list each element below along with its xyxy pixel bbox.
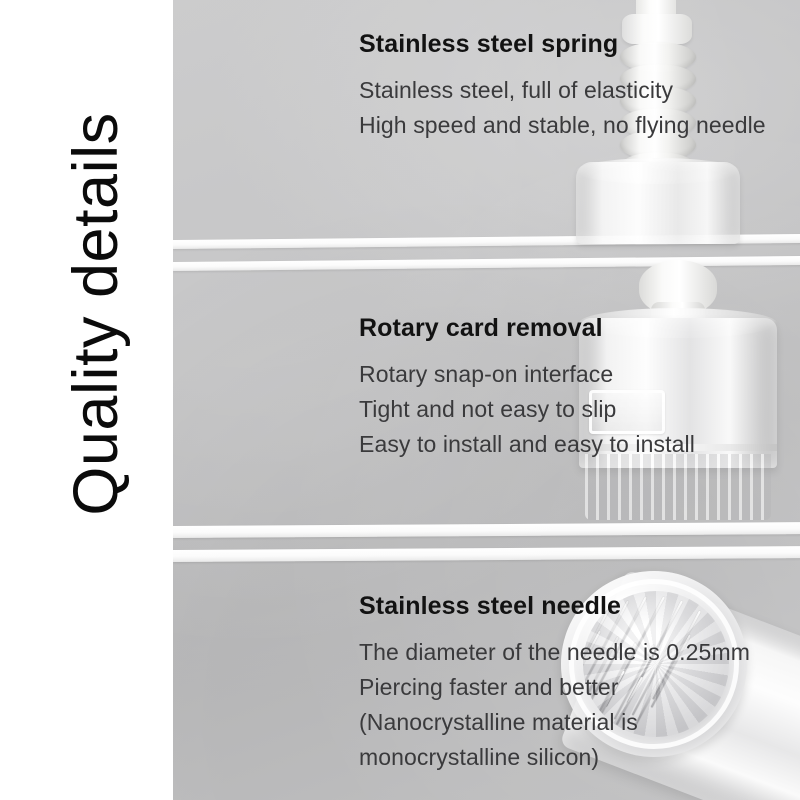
section-line: monocrystalline silicon) xyxy=(359,740,750,775)
section-stainless-steel-needle: Stainless steel needle The diameter of t… xyxy=(359,592,750,775)
section-line: High speed and stable, no flying needle xyxy=(359,108,766,143)
divider-bar xyxy=(173,233,800,249)
section-rotary-card-removal: Rotary card removal Rotary snap-on inter… xyxy=(359,314,695,462)
section-line: Rotary snap-on interface xyxy=(359,357,695,392)
spring-base-rim xyxy=(576,158,740,184)
section-line: Tight and not easy to slip xyxy=(359,392,695,427)
section-heading: Stainless steel needle xyxy=(359,592,750,621)
rotary-ribbed-barrel xyxy=(585,454,771,520)
divider-bar xyxy=(173,255,800,271)
section-stainless-steel-spring: Stainless steel spring Stainless steel, … xyxy=(359,30,766,143)
section-divider-2 xyxy=(173,520,800,560)
spring-base-cylinder xyxy=(576,162,740,244)
divider-bar xyxy=(173,546,800,562)
section-line: Easy to install and easy to install xyxy=(359,427,695,462)
section-heading: Stainless steel spring xyxy=(359,30,766,59)
section-line: Piercing faster and better xyxy=(359,670,750,705)
page-title: Quality details xyxy=(60,34,132,594)
section-line: Stainless steel, full of elasticity xyxy=(359,73,766,108)
infographic-page: Stainless steel spring Stainless steel, … xyxy=(0,0,800,800)
section-heading: Rotary card removal xyxy=(359,314,695,343)
divider-bar xyxy=(173,522,800,538)
product-photo-panel: Stainless steel spring Stainless steel, … xyxy=(173,0,800,800)
spring-coil-6 xyxy=(620,152,696,182)
rotary-knob xyxy=(639,260,717,316)
section-line: (Nanocrystalline material is xyxy=(359,705,750,740)
left-title-rail: Quality details xyxy=(0,0,173,800)
spring-stem xyxy=(636,0,676,28)
section-line: The diameter of the needle is 0.25mm xyxy=(359,635,750,670)
section-divider-1 xyxy=(173,232,800,272)
